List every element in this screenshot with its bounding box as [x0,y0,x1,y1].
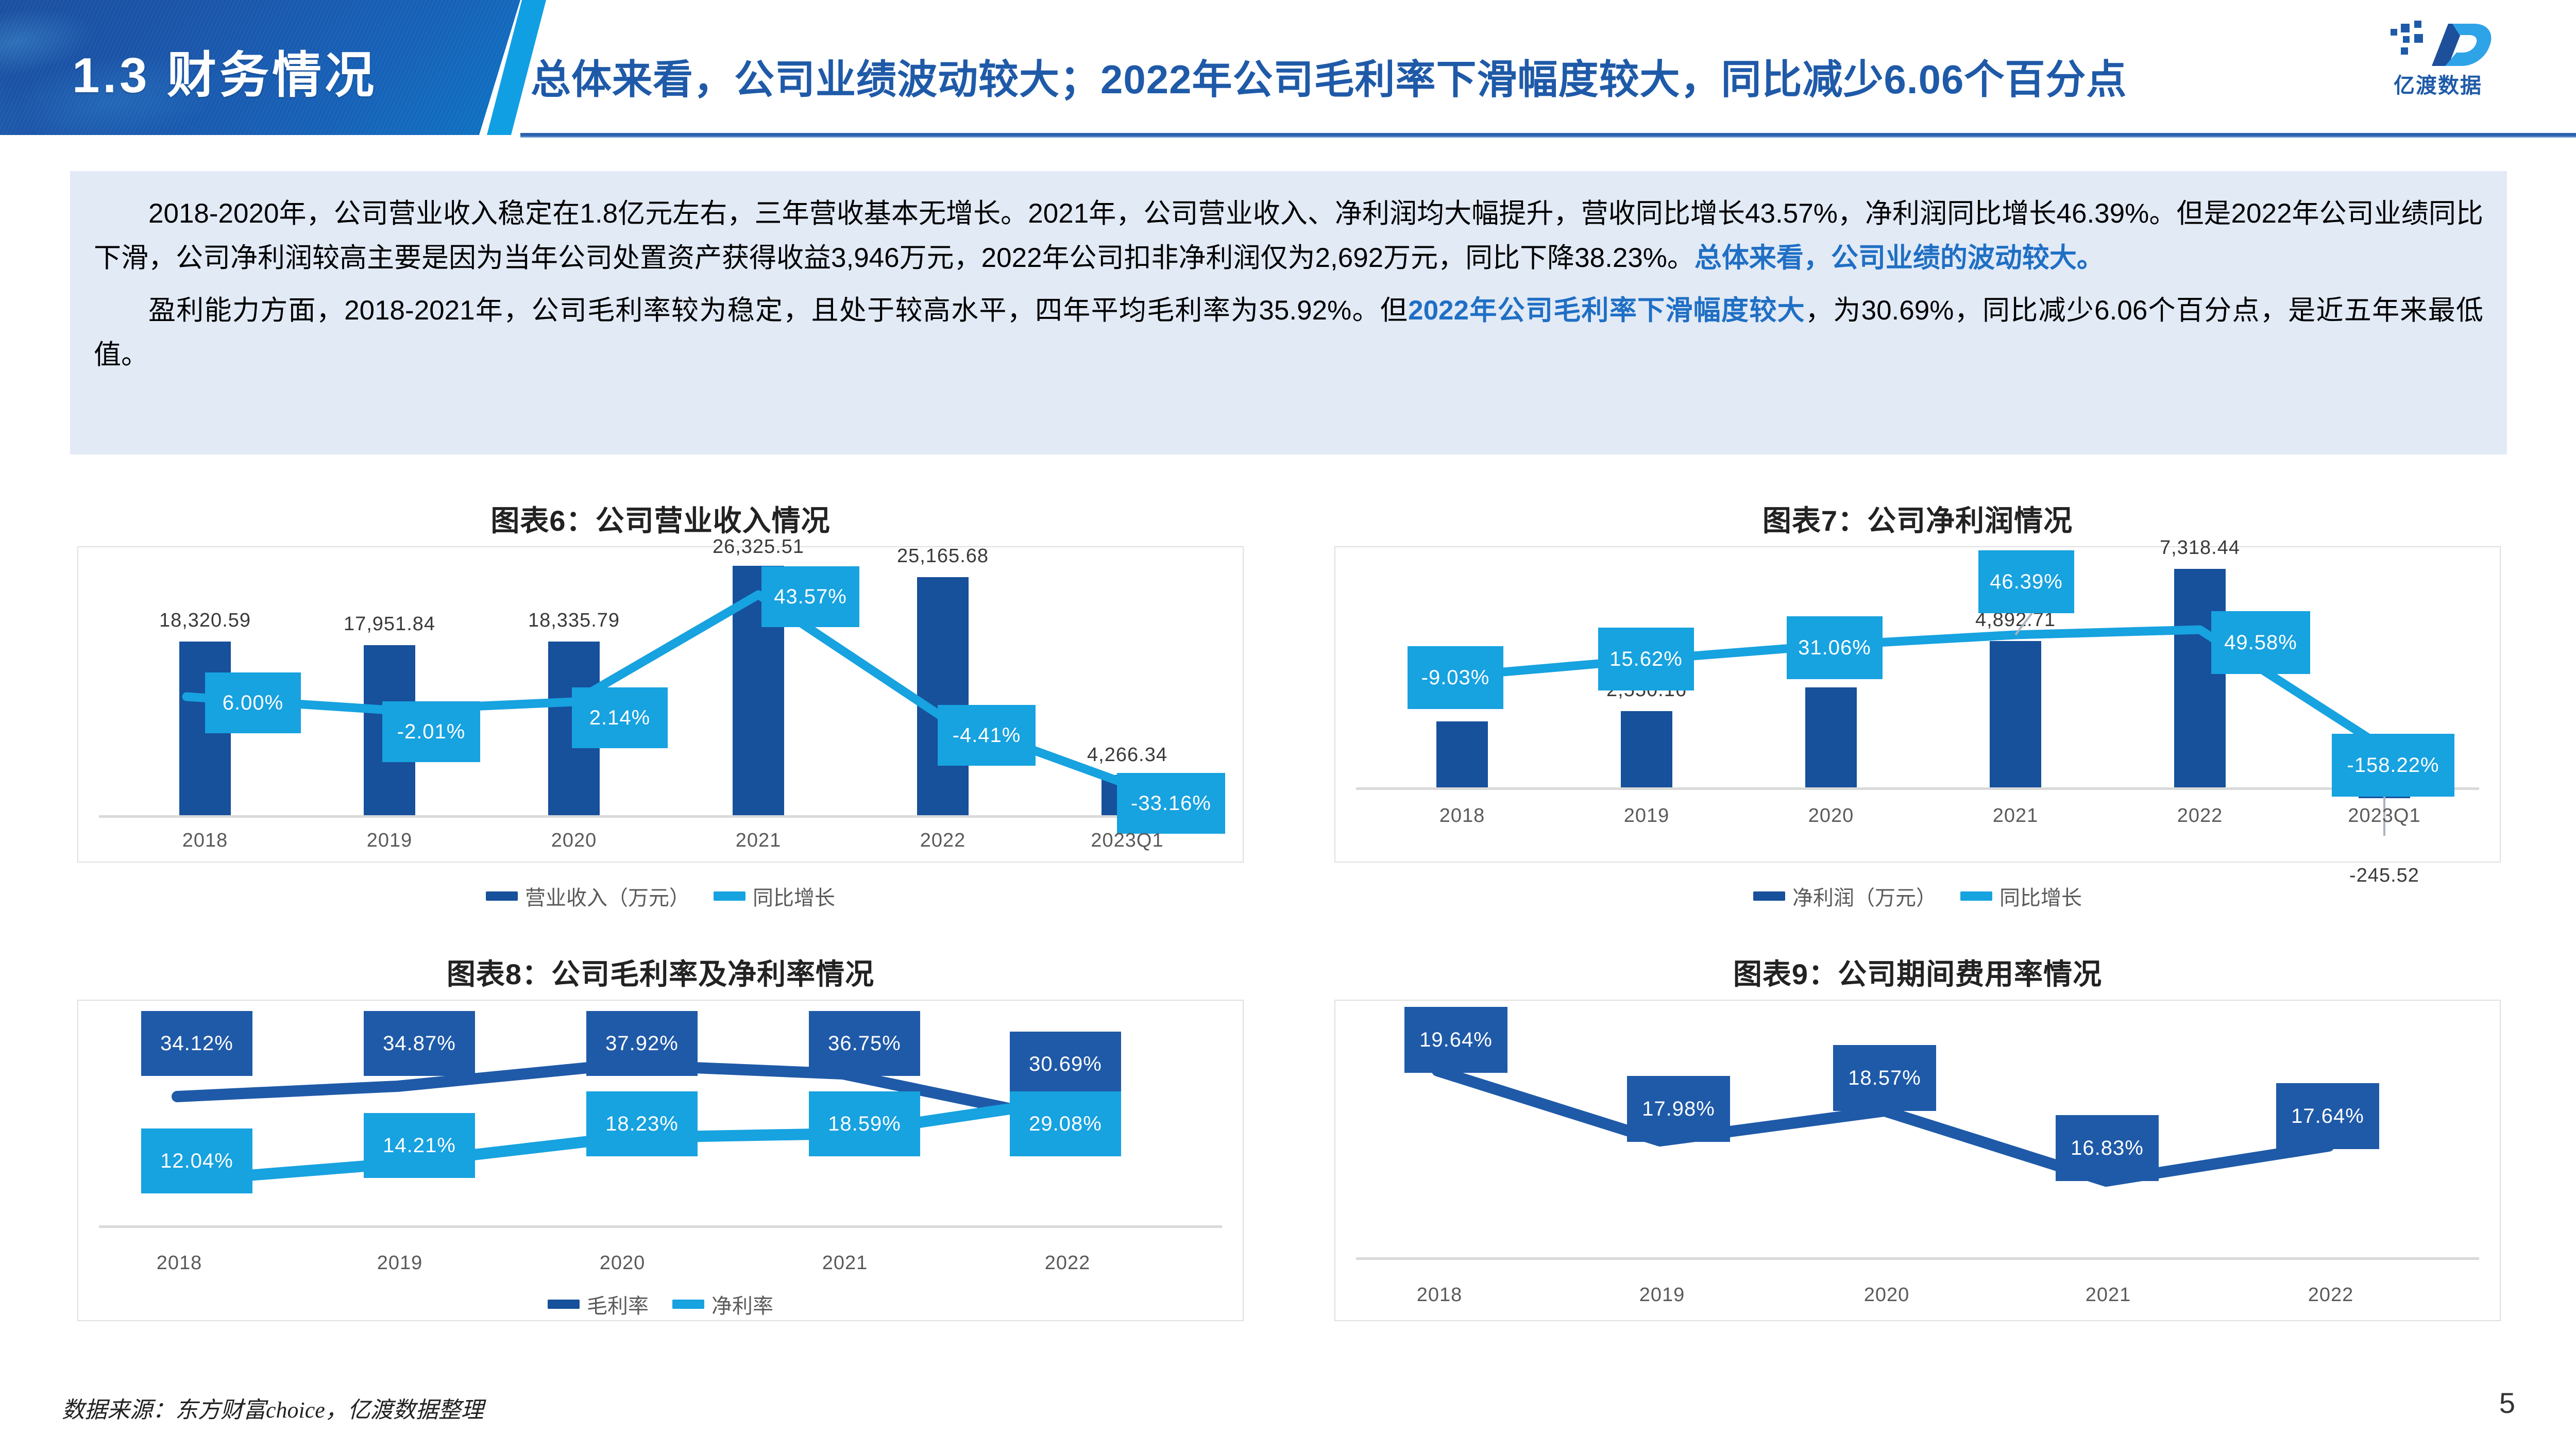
yd-logo-icon [2387,21,2496,68]
chart8-net-tag-2022: 29.08% [1010,1091,1121,1156]
chart8-legend-label-gross: 毛利率 [587,1289,649,1319]
chart8-title: 图表8：公司毛利率及净利率情况 [78,951,1243,993]
chart7-legend-label-growth: 同比增长 [1999,881,2082,911]
chart8-category-2020: 2020 [600,1252,646,1274]
chart7-growth-tag-2021: 46.39% [1978,550,2074,613]
chart-card-chart7: 图表7：公司净利润情况 2,205.62 2,550.16 3,342.17 4… [1334,546,2501,863]
chart9-category-2020: 2020 [1864,1284,1910,1306]
chart7-category-2022: 2022 [2177,805,2223,827]
navy-swatch-icon [548,1300,580,1309]
chart6-title: 图表6：公司营业收入情况 [78,498,1243,540]
chart8-category-2022: 2022 [1045,1252,1091,1274]
chart8-legend: 毛利率 净利率 [78,1289,1243,1319]
chart8-legend-label-net: 净利率 [711,1289,773,1319]
summary-textbox: 2018-2020年，公司营业收入稳定在1.8亿元左右，三年营收基本无增长。20… [70,171,2507,454]
chart7-category-2018: 2018 [1439,805,1485,827]
chart7-growth-tag-2022: 49.58% [2211,611,2310,674]
chart8-plot: 34.12% 34.87% 37.92% 36.75% 30.69% 12.04… [78,1001,1243,1320]
slide-header: 1.3 财务情况 总体来看，公司业绩波动较大；2022年公司毛利率下滑幅度较大，… [0,0,2576,135]
chart8-legend-item-gross: 毛利率 [548,1289,649,1319]
chart8-category-2019: 2019 [377,1252,423,1274]
chart6-growth-tag-2019: -2.01% [382,701,480,762]
chart8-gross-tag-2022: 30.69% [1010,1032,1121,1097]
chart7-growth-tag-2020: 31.06% [1787,616,1883,679]
chart6-legend: 营业收入（万元） 同比增长 [78,881,1243,911]
chart8-gross-tag-2018: 34.12% [141,1011,252,1076]
chart9-value-tag-2020: 18.57% [1833,1045,1936,1111]
chart8-net-tag-2021: 18.59% [809,1091,920,1156]
chart8-gross-tag-2021: 36.75% [809,1011,920,1076]
cyan-swatch-icon [1960,891,1992,901]
chart9-category-2018: 2018 [1417,1284,1463,1306]
logo-text: 亿渡数据 [2361,68,2515,99]
chart6-category-2023Q1: 2023Q1 [1091,830,1163,852]
chart6-category-2018: 2018 [182,830,228,852]
chart9-category-2022: 2022 [2308,1284,2354,1306]
chart7-growth-line [1335,547,2500,862]
chart8-net-tag-2019: 14.21% [364,1113,475,1178]
summary-paragraph-1: 2018-2020年，公司营业收入稳定在1.8亿元左右，三年营收基本无增长。20… [94,192,2483,280]
chart8-net-tag-2020: 18.23% [586,1091,698,1156]
cyan-swatch-icon [672,1300,704,1309]
chart7-category-2019: 2019 [1624,805,1670,827]
chart8-legend-item-net: 净利率 [672,1289,773,1319]
paragraph-1-highlight: 总体来看，公司业绩的波动较大。 [1694,243,2104,273]
chart7-category-2023Q1: 2023Q1 [2348,805,2420,827]
chart7-category-2020: 2020 [1808,805,1854,827]
chart-card-chart8: 图表8：公司毛利率及净利率情况 34.12% 34.87% 37.92% 36.… [77,1000,1244,1321]
chart8-gross-tag-2020: 37.92% [586,1011,698,1076]
chart-card-chart9: 图表9：公司期间费用率情况 19.64% 17.98% 18.57% 16.83… [1334,1000,2501,1321]
chart9-value-tag-2019: 17.98% [1627,1076,1730,1142]
chart6-legend-label-revenue: 营业收入（万元） [525,881,690,911]
chart6-category-2021: 2021 [736,830,782,852]
chart6-growth-tag-2022: -4.41% [938,705,1036,766]
chart7-legend: 净利润（万元） 同比增长 [1335,881,2500,911]
chart7-plot: 2,205.62 2,550.16 3,342.17 4,892.71 7,31… [1335,547,2500,862]
summary-paragraph-2: 盈利能力方面，2018-2021年，公司毛利率较为稳定，且处于较高水平，四年平均… [94,289,2483,377]
paragraph-2-highlight: 2022年公司毛利率下滑幅度较大 [1408,295,1805,326]
chart6-legend-item-revenue: 营业收入（万元） [486,881,690,911]
chart8-category-2021: 2021 [822,1252,868,1274]
chart6-growth-tag-2020: 2.14% [572,687,668,748]
chart6-growth-tag-2021: 43.57% [761,566,859,627]
chart7-title: 图表7：公司净利润情况 [1335,498,2500,540]
paragraph-1-text: 2018-2020年，公司营业收入稳定在1.8亿元左右，三年营收基本无增长。20… [94,198,2483,273]
data-source-note: 数据来源：东方财富choice，亿渡数据整理 [62,1391,484,1424]
chart6-growth-tag-2023Q1: -33.16% [1117,773,1225,834]
chart7-legend-label-netprofit: 净利润（万元） [1792,881,1937,911]
page-number: 5 [2499,1386,2515,1420]
chart9-category-2019: 2019 [1639,1284,1685,1306]
chart7-legend-item-netprofit: 净利润（万元） [1753,881,1937,911]
chart6-category-2019: 2019 [367,830,413,852]
chart8-category-2018: 2018 [157,1252,202,1274]
chart6-growth-tag-2018: 6.00% [205,672,301,733]
chart6-legend-item-growth: 同比增长 [714,881,835,911]
chart8-net-tag-2018: 12.04% [141,1128,252,1193]
section-number: 1.3 财务情况 [72,35,377,107]
navy-swatch-icon [486,891,518,901]
chart9-value-tag-2022: 17.64% [2276,1083,2379,1149]
chart9-category-2021: 2021 [2086,1284,2131,1306]
navy-swatch-icon [1753,891,1785,901]
chart-card-chart6: 图表6：公司营业收入情况 18,320.59 17,951.84 18,335.… [77,546,1244,863]
chart9-title: 图表9：公司期间费用率情况 [1335,951,2500,993]
chart7-growth-tag-2018: -9.03% [1408,646,1503,709]
cyan-swatch-icon [714,891,745,901]
chart6-plot: 18,320.59 17,951.84 18,335.79 26,325.51 … [78,547,1243,862]
chart9-value-tag-2021: 16.83% [2056,1115,2159,1181]
brand-logo: 亿渡数据 [2361,18,2515,105]
chart7-legend-item-growth: 同比增长 [1960,881,2082,911]
chart7-growth-tag-2023Q1: -158.22% [2332,734,2454,797]
chart8-gross-tag-2019: 34.87% [364,1011,475,1076]
chart6-legend-label-growth: 同比增长 [753,881,835,911]
chart7-category-2021: 2021 [1993,805,2039,827]
page-title: 总体来看，公司业绩波动较大；2022年公司毛利率下滑幅度较大，同比减少6.06个… [531,47,2127,105]
header-divider-rule [520,133,2576,138]
chart9-value-tag-2018: 19.64% [1404,1007,1507,1073]
chart7-growth-tag-2019: 15.62% [1598,628,1694,690]
chart6-category-2022: 2022 [920,830,966,852]
paragraph-2-text-a: 盈利能力方面，2018-2021年，公司毛利率较为稳定，且处于较高水平，四年平均… [148,295,1408,326]
chart6-category-2020: 2020 [551,830,597,852]
chart9-plot: 19.64% 17.98% 18.57% 16.83% 17.64% 2018 … [1335,1001,2500,1320]
